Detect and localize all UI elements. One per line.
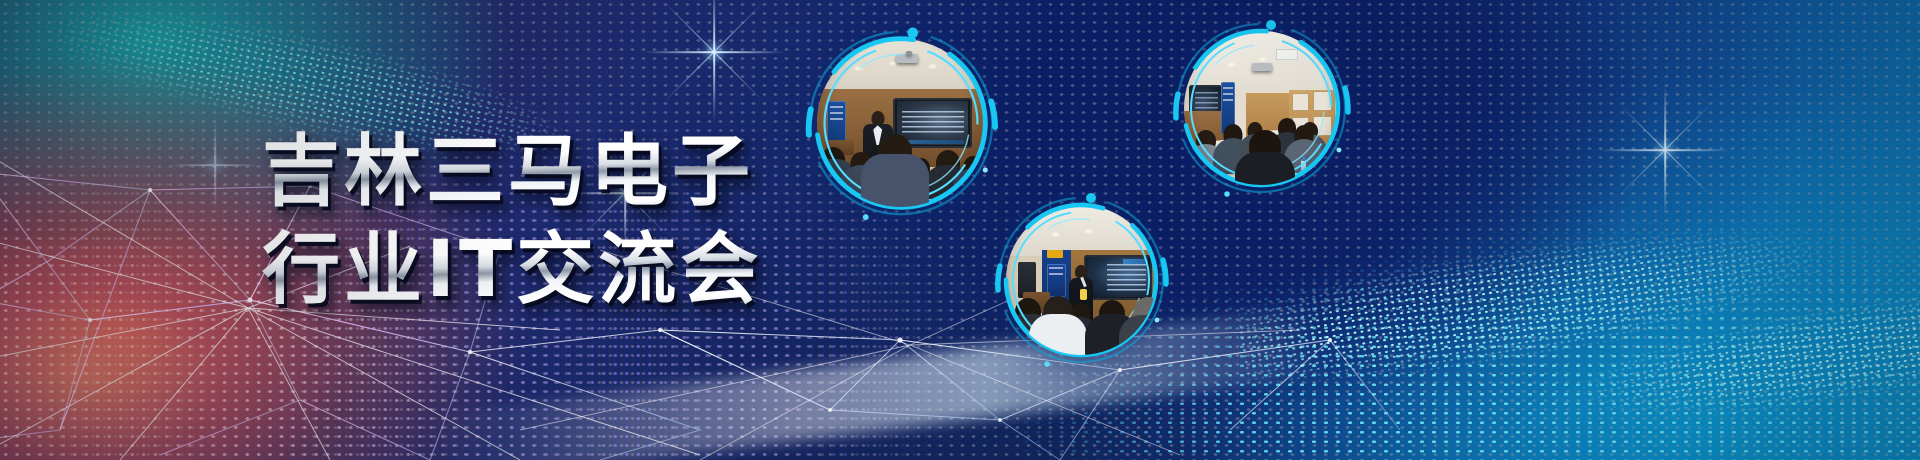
it-exchange-conference-banner: 吉林三马电子 行业IT交流会 [0,0,1920,460]
edge-vignette [0,0,1920,460]
